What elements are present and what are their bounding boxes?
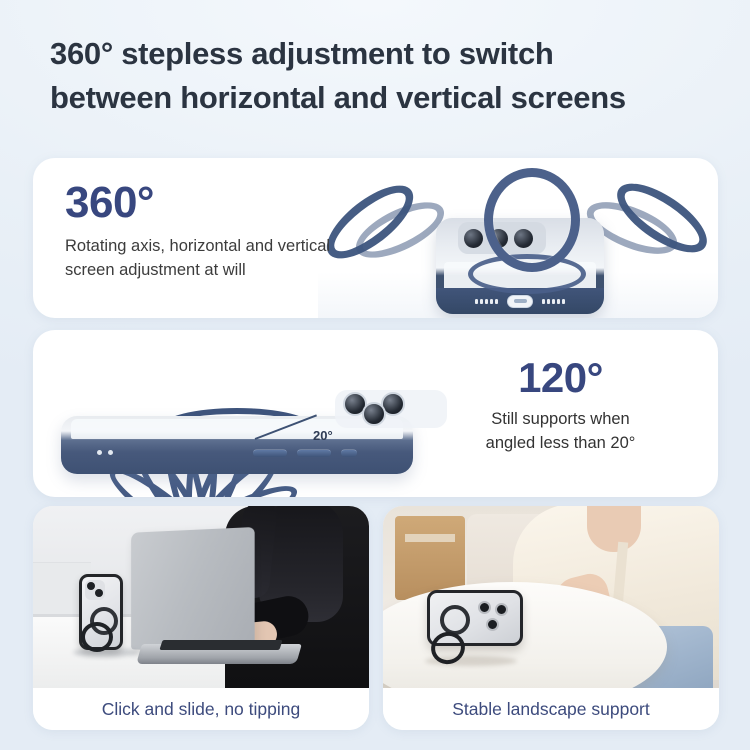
scene-living-room-table [383,506,719,688]
magsafe-ring-landscape-icon [440,605,470,635]
feature-120-description-line-2: angled less than 20° [486,434,636,452]
feature-120-value: 120° [433,356,688,400]
scene-laptop-desk [33,506,369,688]
feature-360-value: 360° [65,180,330,226]
ring-rotation-illustration [318,158,718,318]
side-buttons-icon [253,449,357,457]
laptop-lid [131,527,255,655]
page-title: 360° stepless adjustment to switch betwe… [50,32,710,120]
laptop-keyboard [159,640,282,650]
photo-left-caption: Click and slide, no tipping [33,688,369,730]
feature-120-description-line-1: Still supports when [491,410,630,428]
angle-annotation-20: 20° [313,428,333,443]
feature-360-text-block: 360° Rotating axis, horizontal and verti… [65,180,330,283]
feature-360-description-line-2: screen adjustment at will [65,261,246,279]
phone-camera-icon [85,580,105,600]
speaker-grille-left-icon [475,299,498,304]
feature-120-text-block: 120° Still supports when angled less tha… [433,356,688,456]
charging-port-icon [507,295,533,308]
photo-desk-laptop-scene [33,506,369,688]
speaker-dots-icon [97,450,113,455]
photo-round-table-scene [383,506,719,688]
feature-120-description: Still supports when angled less than 20° [433,408,688,456]
ring-angle-fan-illustration: 20° [33,330,453,497]
photo-right-caption: Stable landscape support [383,688,719,730]
photo-card-landscape-support: Stable landscape support [383,506,719,730]
camera-module-side-icon [335,390,447,428]
feature-card-120: 20° 120° Still supports when angled less… [33,330,718,497]
feature-360-description-line-1: Rotating axis, horizontal and vertical [65,237,330,255]
headline-line-2: between horizontal and vertical screens [50,76,710,120]
feature-360-description: Rotating axis, horizontal and vertical s… [65,235,330,283]
headline-line-1: 360° stepless adjustment to switch [50,36,554,71]
feature-card-360: 360° Rotating axis, horizontal and verti… [33,158,718,318]
phone-camera-landscape-icon [478,601,514,637]
ring-stand-upright-icon [484,168,580,272]
speaker-grille-right-icon [542,299,565,304]
product-feature-page: 360° stepless adjustment to switch betwe… [0,0,750,750]
ring-kickstand-icon [81,622,113,652]
photo-card-click-and-slide: Click and slide, no tipping [33,506,369,730]
